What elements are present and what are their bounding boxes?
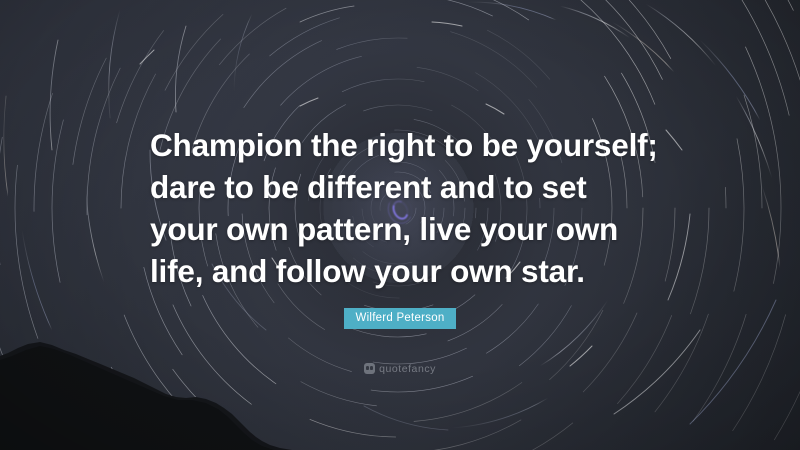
quote-line-2: dare to be different and to set [150,166,660,208]
author-name-badge[interactable]: Wilferd Peterson [344,308,455,329]
quote-line-1: Champion the right to be yourself; [150,124,660,166]
poster-content: Champion the right to be yourself; dare … [0,0,800,450]
author-attribution: Wilferd Peterson [0,308,800,329]
watermark-inner[interactable]: quotefancy [364,363,436,375]
watermark: quotefancy [0,361,800,379]
quote-text: Champion the right to be yourself; dare … [150,124,660,292]
quote-line-3: your own pattern, live your own [150,208,660,250]
quote-line-4: life, and follow your own star. [150,250,660,292]
quote-poster: Champion the right to be yourself; dare … [0,0,800,450]
quote-marks-icon [364,363,375,374]
watermark-brand: quotefancy [379,363,436,375]
